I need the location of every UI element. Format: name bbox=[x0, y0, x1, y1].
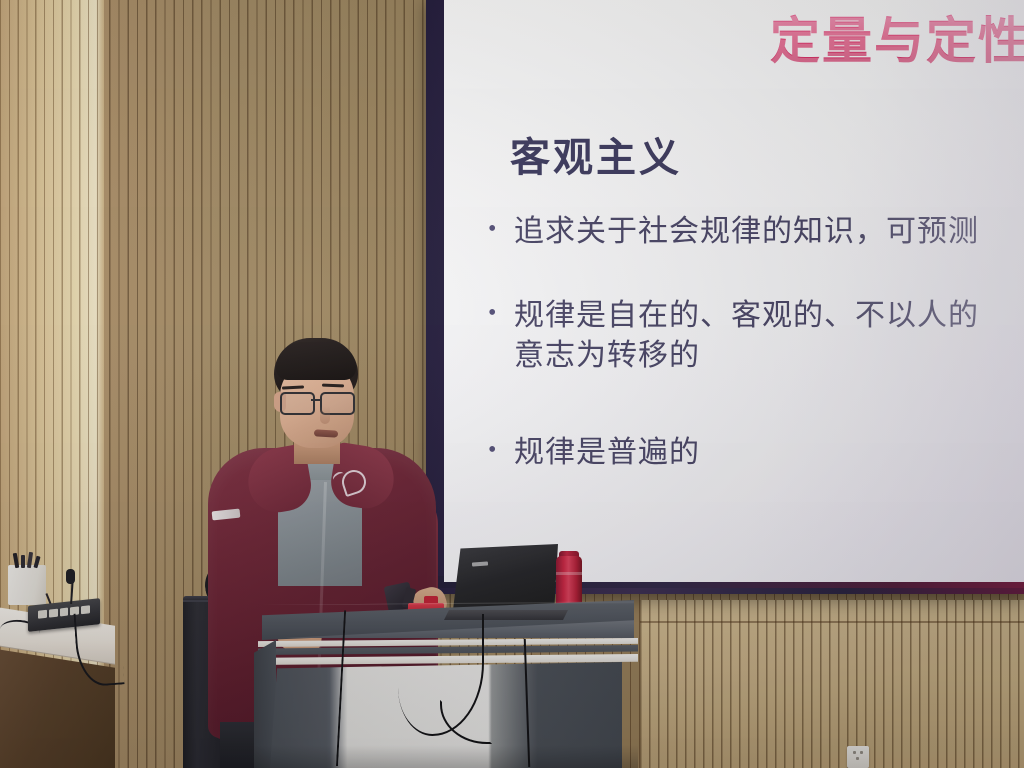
thermos-band bbox=[556, 572, 582, 575]
glasses-icon bbox=[278, 392, 356, 412]
slide-title: 定量与定性 bbox=[770, 14, 1024, 69]
wall-power-outlet bbox=[847, 746, 869, 768]
podium-floor-shadow bbox=[254, 745, 638, 768]
pens bbox=[14, 552, 42, 568]
bullet-text-3: 规律是普遍的 bbox=[514, 433, 1024, 473]
slide-bullet-list: • 追求关于社会规律的知识，可预测 • 规律是自在的、客观的、不以人的 意志为转… bbox=[488, 212, 1024, 473]
list-item: • 规律是普遍的 bbox=[488, 433, 1024, 473]
bullet-text-1: 追求关于社会规律的知识，可预测 bbox=[514, 212, 1024, 252]
gooseneck-microphone-head bbox=[66, 569, 75, 584]
presenter-mouth bbox=[314, 429, 338, 437]
bullet-dot-icon: • bbox=[488, 296, 514, 331]
glasses-lens-left bbox=[280, 392, 315, 415]
bullet-dot-icon: • bbox=[488, 433, 514, 468]
pen-holder bbox=[8, 565, 46, 605]
bullet-text-2-line1: 规律是自在的、客观的、不以人的 bbox=[514, 299, 979, 332]
glasses-bridge bbox=[311, 399, 322, 401]
projection-screen[interactable]: 定量与定性 客观主义 • 追求关于社会规律的知识，可预测 • 规律是自在的、客观… bbox=[444, 0, 1024, 582]
power-cable-d bbox=[464, 639, 530, 768]
wood-slat-wall-below-screen bbox=[640, 600, 1024, 768]
presenter-nose bbox=[320, 406, 330, 424]
lecture-photo-scene: 定量与定性 客观主义 • 追求关于社会规律的知识，可预测 • 规律是自在的、客观… bbox=[0, 0, 1024, 768]
bullet-text-2: 规律是自在的、客观的、不以人的 意志为转移的 bbox=[514, 296, 1024, 376]
list-item: • 规律是自在的、客观的、不以人的 意志为转移的 bbox=[488, 296, 1024, 376]
wall-seam-line bbox=[640, 621, 1024, 623]
presenter-hair-front bbox=[276, 342, 356, 380]
bullet-dot-icon: • bbox=[488, 212, 514, 247]
slide-heading: 客观主义 bbox=[510, 125, 682, 183]
bullet-text-2-line2: 意志为转移的 bbox=[514, 339, 700, 372]
list-item: • 追求关于社会规律的知识，可预测 bbox=[488, 212, 1024, 252]
